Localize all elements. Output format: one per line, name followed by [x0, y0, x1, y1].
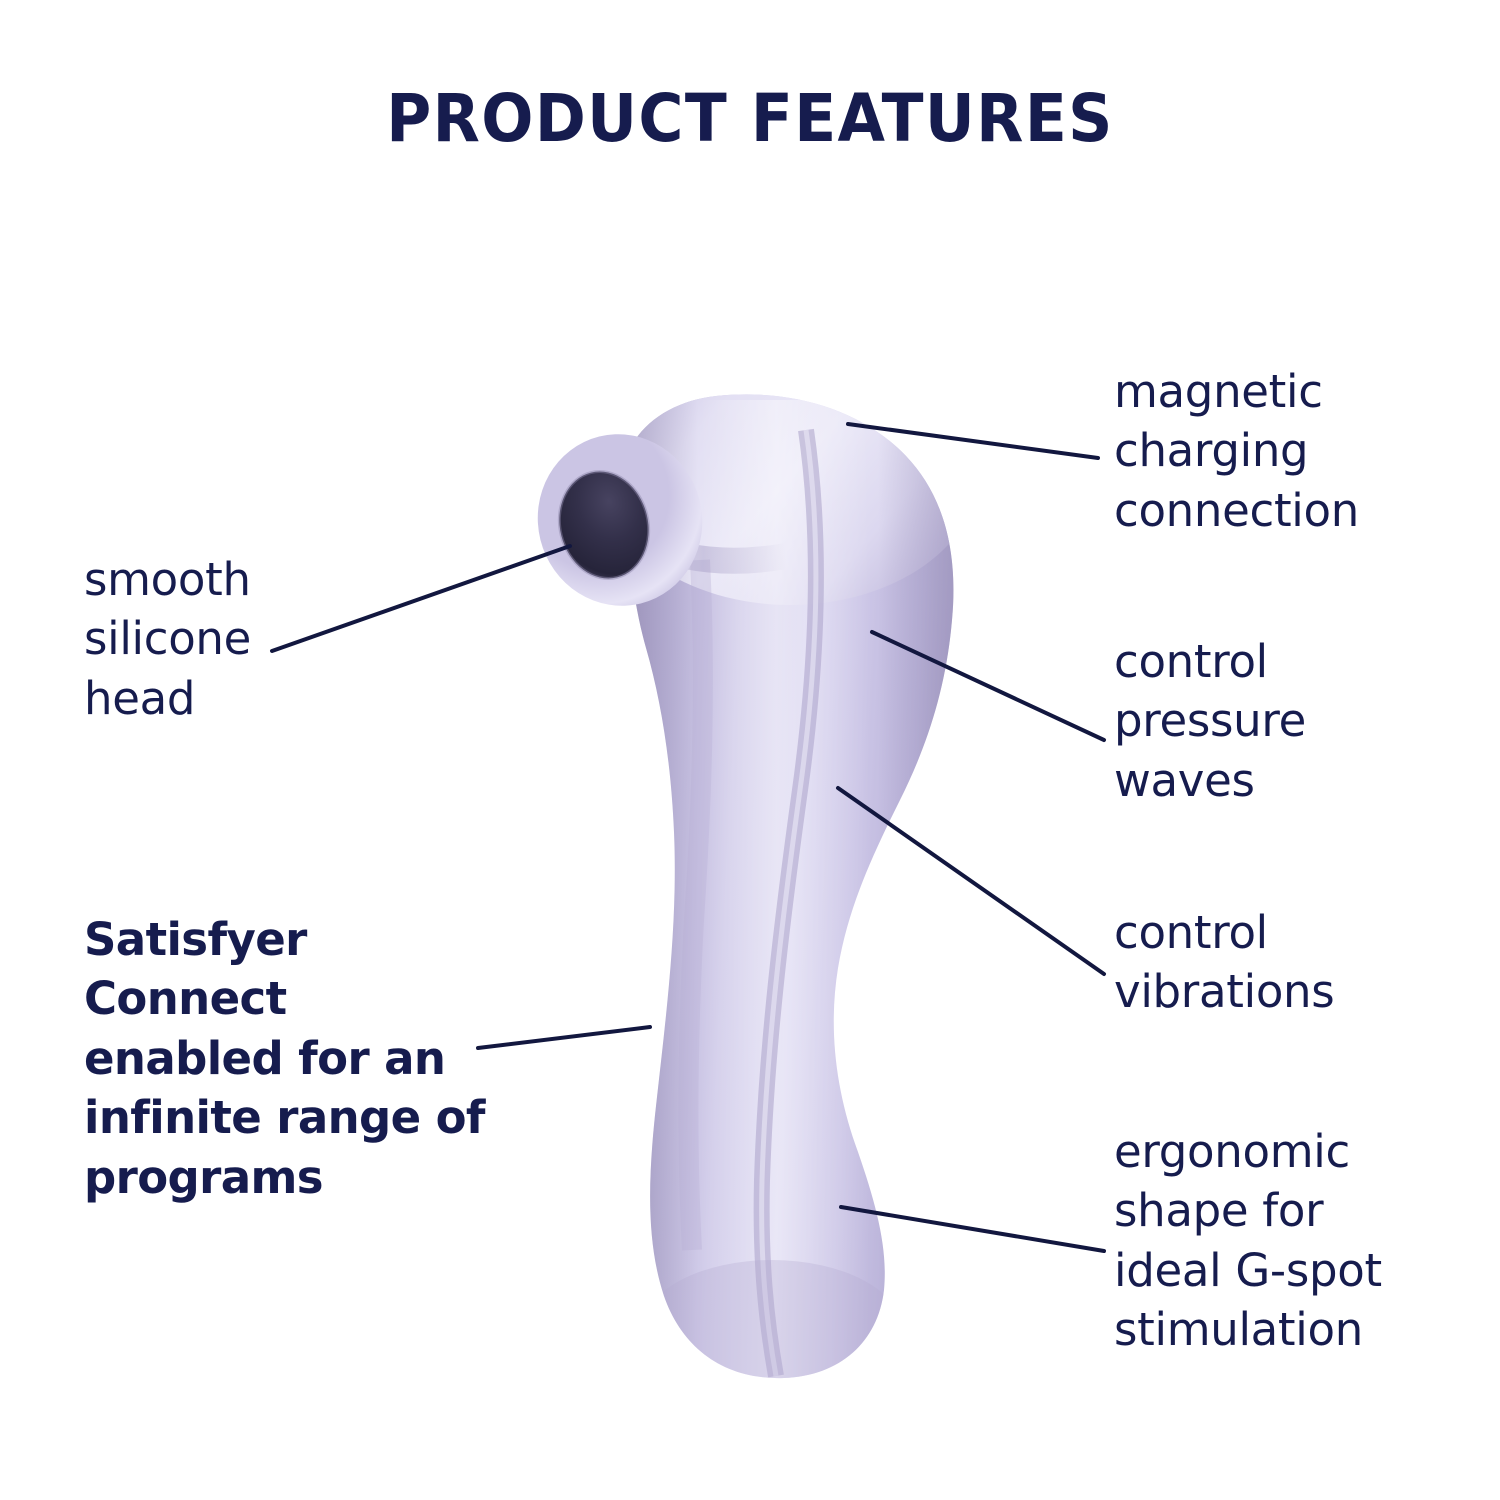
leader-line-smooth-head — [272, 546, 570, 651]
leader-line-ergonomic-shape — [841, 1207, 1104, 1251]
leader-line-control-pressure — [872, 632, 1104, 740]
leader-lines — [0, 0, 1500, 1500]
leader-line-magnetic-charging — [848, 424, 1098, 458]
leader-line-satisfyer-connect — [478, 1027, 650, 1048]
product-features-infographic: PRODUCT FEATURES — [0, 0, 1500, 1500]
leader-line-control-vibrations — [838, 788, 1104, 974]
